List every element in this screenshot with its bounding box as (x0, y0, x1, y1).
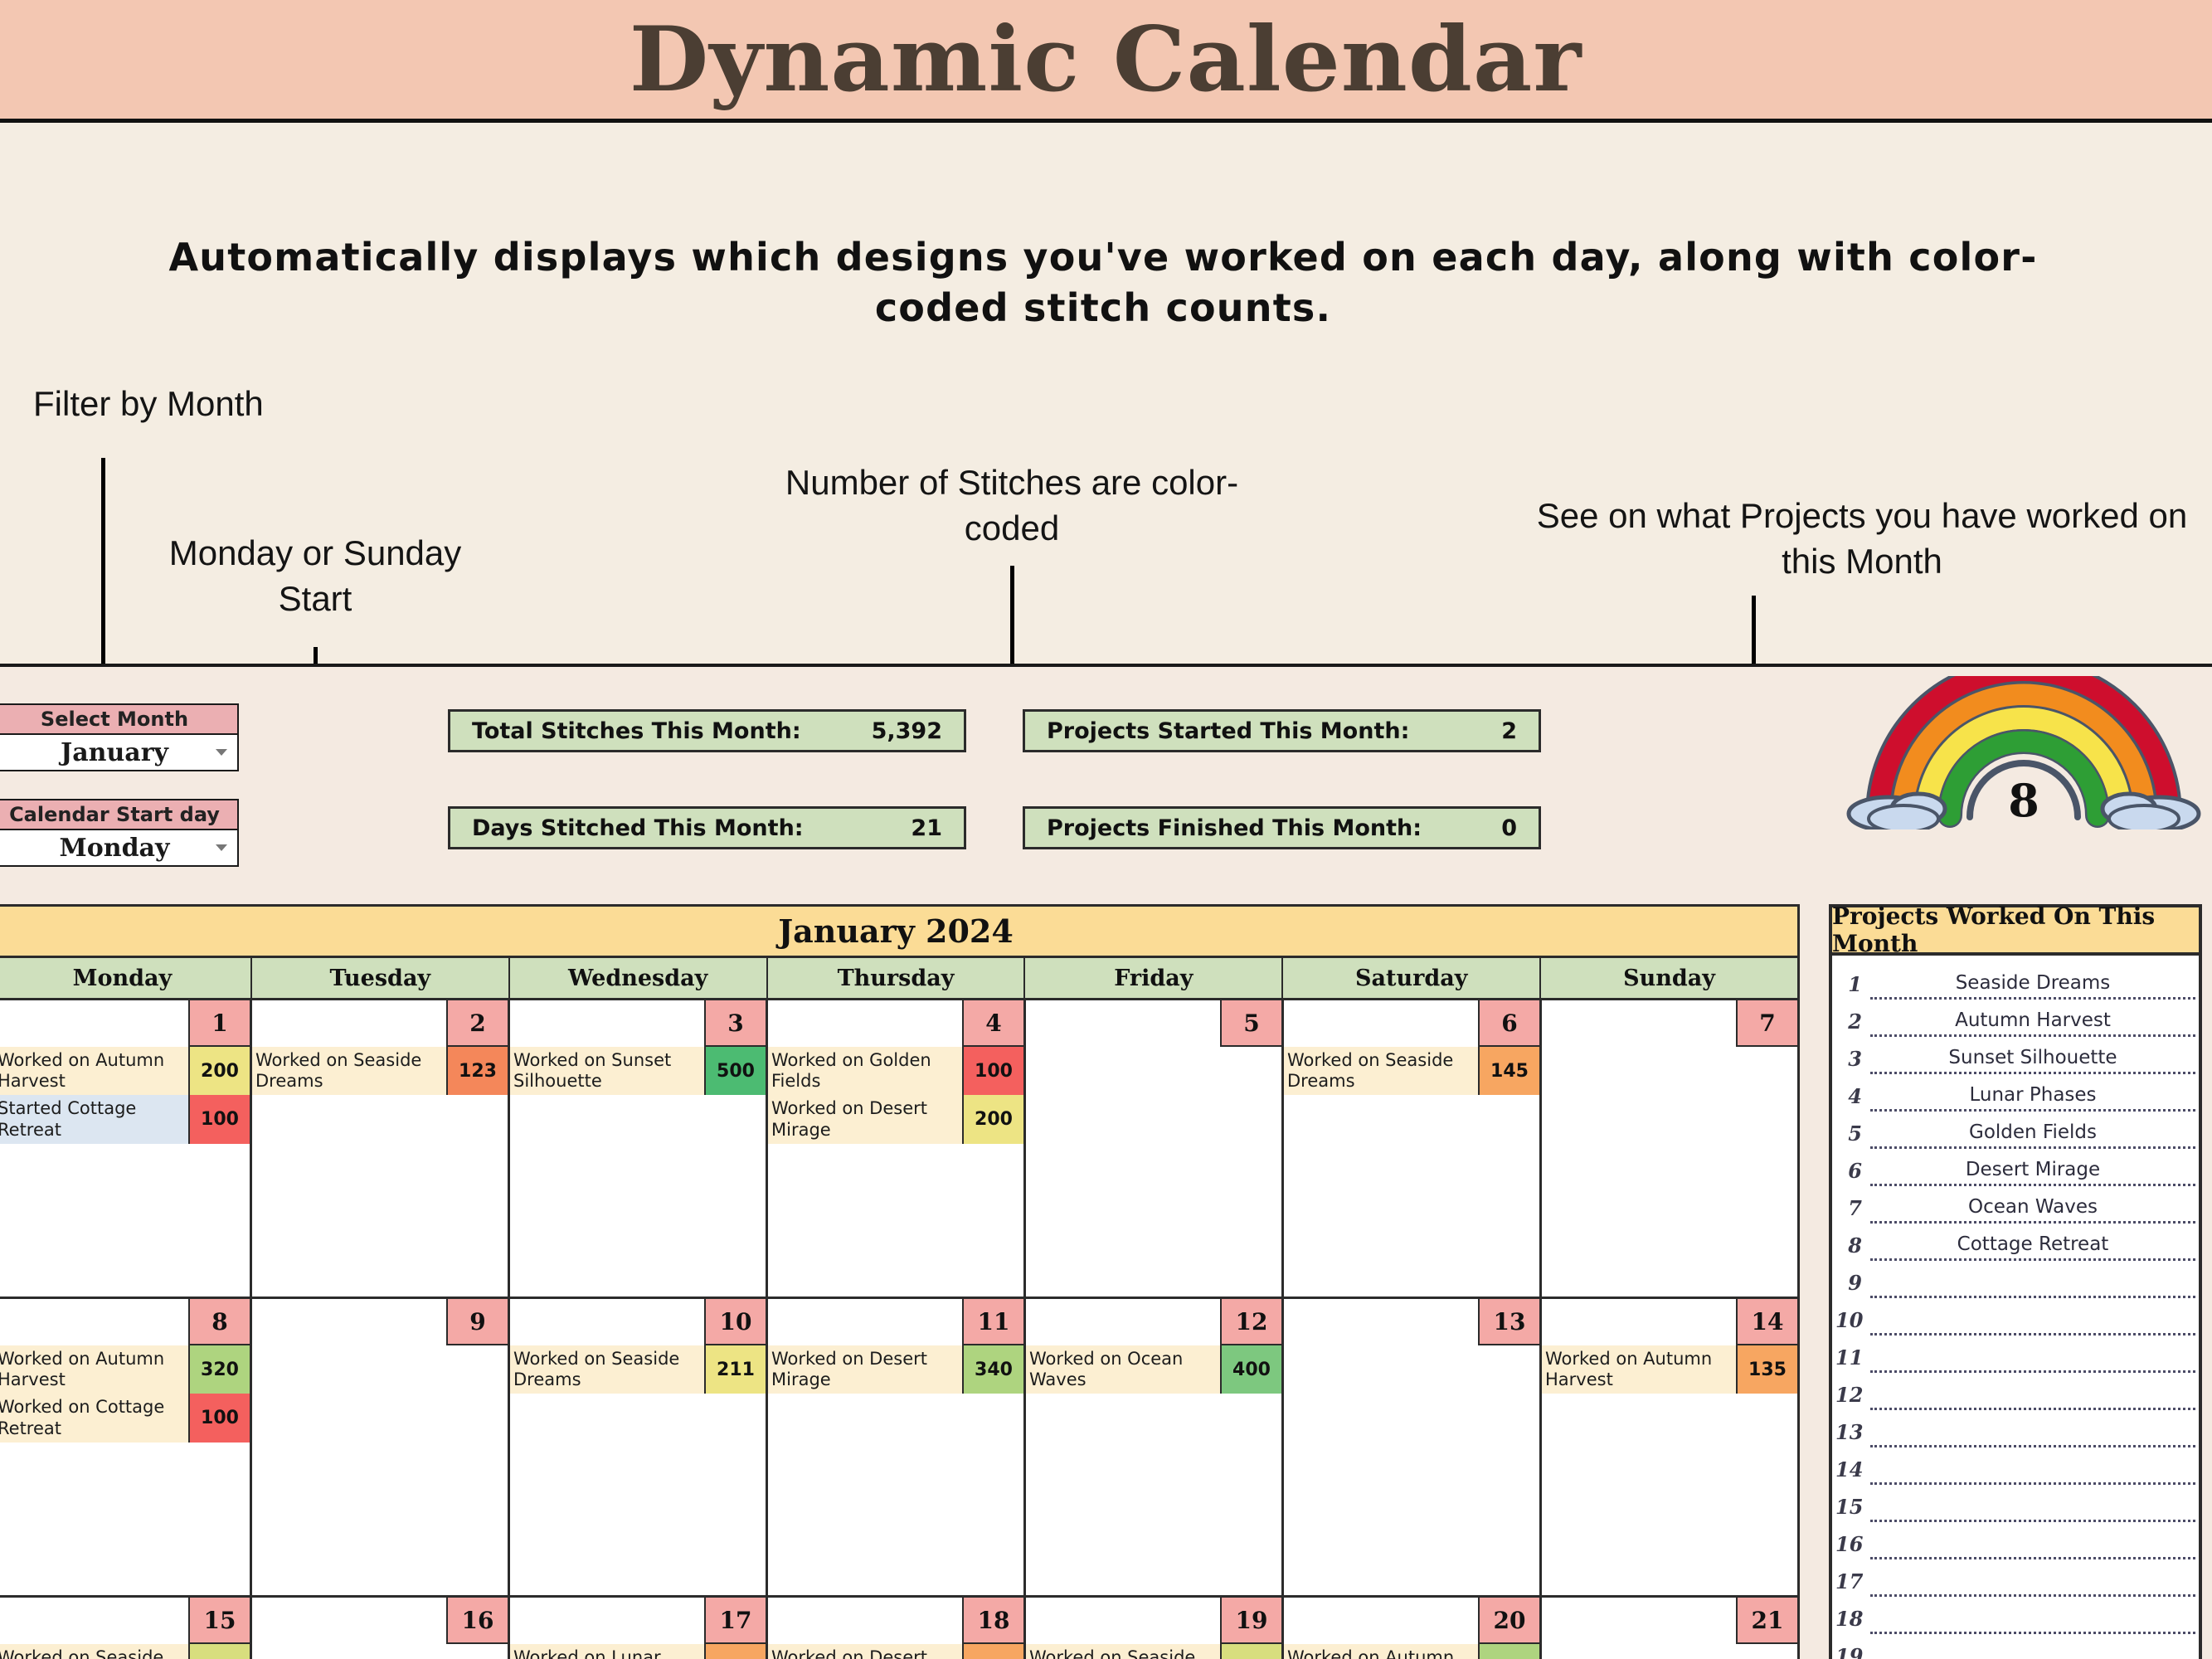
calendar-day-number: 6 (1478, 1000, 1539, 1047)
projects-list-name (1870, 1591, 2195, 1597)
calendar-entry-stitch-count: 200 (188, 1047, 250, 1095)
calendar-day-cell[interactable]: 14Worked on Autumn Harvest135 (1542, 1299, 1797, 1595)
calendar-entry: Worked on Seaside Dreams145 (1284, 1047, 1539, 1095)
stat-projects-finished: Projects Finished This Month: 0 (1023, 806, 1541, 849)
calendar-entry-stitch-count: 123 (446, 1047, 508, 1095)
calendar-day-number: 7 (1736, 1000, 1797, 1047)
calendar-entry-text: Worked on Lunar Phases (510, 1644, 704, 1659)
annotation-stitch-color-coded: Number of Stitches are color-coded (763, 460, 1261, 551)
projects-list-name: Desert Mirage (1870, 1159, 2195, 1186)
calendar-day-entries: Worked on Seaside Dreams245 (1026, 1644, 1281, 1659)
calendar-day-cell[interactable]: 16 (252, 1598, 510, 1659)
calendar-entry-text: Worked on Autumn Harvest (1542, 1345, 1736, 1394)
calendar-day-cell[interactable]: 5 (1026, 1000, 1284, 1297)
calendar-day-number: 11 (962, 1299, 1023, 1345)
projects-list-item: 15 (1835, 1485, 2195, 1522)
chevron-down-icon[interactable] (216, 844, 227, 851)
calendar-day-number: 18 (962, 1598, 1023, 1644)
projects-list-item: 5Golden Fields (1835, 1112, 2195, 1149)
calendar-entry: Worked on Seaside Dreams211 (510, 1345, 766, 1394)
calendar-entry-stitch-count: 211 (704, 1345, 766, 1394)
stat-value: 2 (1501, 718, 1517, 744)
calendar-entry: Worked on Desert Mirage133 (768, 1644, 1023, 1659)
projects-list-name (1870, 1404, 2195, 1410)
calendar-day-header-saturday: Saturday (1283, 958, 1541, 998)
calendar-week-row: 8Worked on Autumn Harvest320Worked on Co… (0, 1299, 1797, 1598)
calendar-day-cell[interactable]: 3Worked on Sunset Silhouette500 (510, 1000, 768, 1297)
calendar-day-cell[interactable]: 2Worked on Seaside Dreams123 (252, 1000, 510, 1297)
calendar-day-entries: Worked on Autumn Harvest320Worked on Cot… (0, 1345, 250, 1443)
calendar-day-cell[interactable]: 21 (1542, 1598, 1797, 1659)
calendar-entry: Worked on Autumn Harvest135 (1542, 1345, 1797, 1394)
calendar-day-number: 14 (1736, 1299, 1797, 1345)
projects-list-index: 11 (1835, 1348, 1870, 1373)
calendar-day-number: 3 (704, 1000, 766, 1047)
projects-list-name: Seaside Dreams (1870, 972, 2195, 1000)
calendar-title: January 2024 (0, 907, 1797, 958)
calendar-entry-text: Worked on Desert Mirage (768, 1644, 962, 1659)
calendar-entry: Worked on Seaside Dreams245 (1026, 1644, 1281, 1659)
calendar-day-entries: Worked on Golden Fields100Worked on Dese… (768, 1047, 1023, 1144)
projects-list-index: 4 (1835, 1087, 1870, 1112)
calendar-entry: Worked on Sunset Silhouette500 (510, 1047, 766, 1095)
calendar-entry-text: Worked on Autumn Harvest (0, 1345, 188, 1394)
calendar-start-day-label: Calendar Start day (0, 799, 239, 830)
calendar-entry: Worked on Lunar Phases135 (510, 1644, 766, 1659)
select-month-dropdown[interactable]: January (0, 735, 239, 771)
stat-value: 0 (1501, 815, 1517, 841)
projects-list-item: 17 (1835, 1559, 2195, 1597)
calendar-entry: Worked on Desert Mirage200 (768, 1095, 1023, 1143)
projects-list-index: 13 (1835, 1423, 1870, 1447)
calendar-entry-text: Worked on Desert Mirage (768, 1345, 962, 1394)
calendar-day-number: 21 (1736, 1598, 1797, 1644)
projects-list-index: 16 (1835, 1535, 1870, 1559)
calendar-day-number: 20 (1478, 1598, 1539, 1644)
projects-list-name (1870, 1442, 2195, 1447)
calendar-day-header-monday: Monday (0, 958, 252, 998)
stat-label: Days Stitched This Month: (472, 815, 911, 841)
calendar-entry-text: Worked on Seaside Dreams (1284, 1047, 1478, 1095)
projects-list-index: 2 (1835, 1012, 1870, 1037)
calendar-entry: Worked on Ocean Waves400 (1026, 1345, 1281, 1394)
calendar-day-number: 16 (446, 1598, 508, 1644)
calendar-day-cell[interactable]: 6Worked on Seaside Dreams145 (1284, 1000, 1542, 1297)
projects-list-name (1870, 1479, 2195, 1485)
calendar-day-cell[interactable]: 20Worked on Autumn Harvest320 (1284, 1598, 1542, 1659)
projects-list-item: 13 (1835, 1410, 2195, 1447)
calendar-day-cell[interactable]: 13 (1284, 1299, 1542, 1595)
calendar-entry-stitch-count: 320 (1478, 1644, 1539, 1659)
calendar-entry-text: Worked on Autumn Harvest (0, 1047, 188, 1095)
calendar-day-entries: Worked on Autumn Harvest320 (1284, 1644, 1539, 1659)
annotation-line-filter (101, 458, 105, 698)
projects-list-index: 17 (1835, 1572, 1870, 1597)
projects-list-item: 19 (1835, 1634, 2195, 1659)
calendar-start-day-value: Monday (60, 834, 170, 863)
page-title: Dynamic Calendar (630, 7, 1582, 112)
calendar-day-number: 9 (446, 1299, 508, 1345)
projects-list-name (1870, 1292, 2195, 1298)
calendar-day-header-friday: Friday (1025, 958, 1283, 998)
calendar-entry-stitch-count: 231 (188, 1644, 250, 1659)
calendar-entry: Worked on Autumn Harvest200 (0, 1047, 250, 1095)
calendar-day-number: 4 (962, 1000, 1023, 1047)
calendar-entry-stitch-count: 400 (1220, 1345, 1281, 1394)
projects-list-name (1870, 1628, 2195, 1634)
calendar-entry-text: Started Cottage Retreat (0, 1095, 188, 1143)
projects-list-name (1870, 1554, 2195, 1559)
calendar-entry: Worked on Seaside Dreams231 (0, 1644, 250, 1659)
projects-list-item: 10 (1835, 1298, 2195, 1335)
projects-list-index: 5 (1835, 1124, 1870, 1149)
projects-list-index: 6 (1835, 1161, 1870, 1186)
calendar-day-cell[interactable]: 4Worked on Golden Fields100Worked on Des… (768, 1000, 1026, 1297)
calendar-entry-stitch-count: 145 (1478, 1047, 1539, 1095)
calendar-entry: Started Cottage Retreat100 (0, 1095, 250, 1143)
calendar-entry-text: Worked on Seaside Dreams (252, 1047, 446, 1095)
calendar-entry-stitch-count: 200 (962, 1095, 1023, 1143)
calendar-day-number: 19 (1220, 1598, 1281, 1644)
stat-value: 21 (911, 815, 942, 841)
stat-value: 5,392 (872, 718, 942, 744)
calendar-day-cell[interactable]: 1Worked on Autumn Harvest200Started Cott… (0, 1000, 252, 1297)
annotation-start-day: Monday or Sunday Start (158, 531, 473, 621)
calendar-day-entries: Worked on Lunar Phases135 (510, 1644, 766, 1659)
calendar-entry: Worked on Cottage Retreat100 (0, 1394, 250, 1442)
calendar-entry-text: Worked on Desert Mirage (768, 1095, 962, 1143)
calendar-day-entries: Worked on Seaside Dreams123 (252, 1047, 508, 1095)
projects-list-item: 11 (1835, 1335, 2195, 1373)
calendar-entry: Worked on Autumn Harvest320 (1284, 1644, 1539, 1659)
calendar: January 2024 MondayTuesdayWednesdayThurs… (0, 904, 1800, 1659)
calendar-day-entries: Worked on Seaside Dreams231 (0, 1644, 250, 1659)
projects-list-item: 4Lunar Phases (1835, 1074, 2195, 1112)
calendar-entry-stitch-count: 100 (962, 1047, 1023, 1095)
calendar-day-cell[interactable]: 10Worked on Seaside Dreams211 (510, 1299, 768, 1595)
title-banner: Dynamic Calendar (0, 0, 2212, 123)
projects-list-index: 9 (1835, 1273, 1870, 1298)
stat-projects-started: Projects Started This Month: 2 (1023, 709, 1541, 752)
projects-list-index: 1 (1835, 975, 1870, 1000)
calendar-week-row: 15Worked on Seaside Dreams2311617Worked … (0, 1598, 1797, 1659)
calendar-day-cell[interactable]: 8Worked on Autumn Harvest320Worked on Co… (0, 1299, 252, 1595)
calendar-entry: Worked on Autumn Harvest320 (0, 1345, 250, 1394)
calendar-day-header-tuesday: Tuesday (252, 958, 510, 998)
annotation-filter-by-month: Filter by Month (33, 382, 382, 427)
projects-list-name (1870, 1367, 2195, 1373)
calendar-day-header-wednesday: Wednesday (510, 958, 768, 998)
calendar-entry-text: Worked on Sunset Silhouette (510, 1047, 704, 1095)
chevron-down-icon[interactable] (216, 749, 227, 756)
calendar-day-number: 5 (1220, 1000, 1281, 1047)
calendar-entry-stitch-count: 340 (962, 1345, 1023, 1394)
calendar-day-entries: Worked on Desert Mirage340 (768, 1345, 1023, 1394)
projects-list-index: 18 (1835, 1609, 1870, 1634)
projects-panel: Projects Worked On This Month 1Seaside D… (1829, 904, 2202, 1659)
stat-days-stitched: Days Stitched This Month: 21 (448, 806, 966, 849)
projects-panel-title: Projects Worked On This Month (1832, 907, 2199, 956)
projects-list-index: 19 (1835, 1647, 1870, 1659)
calendar-day-header-sunday: Sunday (1541, 958, 1797, 998)
calendar-day-entries: Worked on Autumn Harvest135 (1542, 1345, 1797, 1394)
projects-list-item: 12 (1835, 1373, 2195, 1410)
projects-list-name: Ocean Waves (1870, 1196, 2195, 1224)
calendar-day-cell[interactable]: 19Worked on Seaside Dreams245 (1026, 1598, 1284, 1659)
stat-label: Total Stitches This Month: (472, 718, 872, 744)
calendar-entry-text: Worked on Seaside Dreams (510, 1345, 704, 1394)
calendar-day-entries: Worked on Autumn Harvest200Started Cotta… (0, 1047, 250, 1144)
calendar-entry: Worked on Desert Mirage340 (768, 1345, 1023, 1394)
stat-label: Projects Finished This Month: (1047, 815, 1501, 841)
calendar-entry-stitch-count: 100 (188, 1394, 250, 1442)
calendar-entry-stitch-count: 245 (1220, 1644, 1281, 1659)
calendar-day-cell[interactable]: 15Worked on Seaside Dreams231 (0, 1598, 252, 1659)
calendar-entry-text: Worked on Golden Fields (768, 1047, 962, 1095)
projects-list-name (1870, 1516, 2195, 1522)
calendar-entry: Worked on Seaside Dreams123 (252, 1047, 508, 1095)
calendar-day-number: 13 (1478, 1299, 1539, 1345)
calendar-day-cell[interactable]: 12Worked on Ocean Waves400 (1026, 1299, 1284, 1595)
calendar-entry-text: Worked on Seaside Dreams (0, 1644, 188, 1659)
projects-list-name: Cottage Retreat (1870, 1233, 2195, 1261)
projects-list-index: 7 (1835, 1199, 1870, 1224)
projects-list-index: 12 (1835, 1385, 1870, 1410)
calendar-day-entries: Worked on Seaside Dreams211 (510, 1345, 766, 1394)
projects-list-name (1870, 1330, 2195, 1335)
calendar-day-cell[interactable]: 7 (1542, 1000, 1797, 1297)
calendar-day-entries: Worked on Ocean Waves400 (1026, 1345, 1281, 1394)
select-month-label: Select Month (0, 703, 239, 735)
calendar-day-number: 12 (1220, 1299, 1281, 1345)
calendar-day-number: 2 (446, 1000, 508, 1047)
calendar-day-entries: Worked on Seaside Dreams145 (1284, 1047, 1539, 1095)
calendar-weeks: 1Worked on Autumn Harvest200Started Cott… (0, 1000, 1797, 1659)
select-month-control[interactable]: Select Month January (0, 703, 239, 771)
projects-list-item: 16 (1835, 1522, 2195, 1559)
projects-list-item: 2Autumn Harvest (1835, 1000, 2195, 1037)
calendar-entry-stitch-count: 500 (704, 1047, 766, 1095)
calendar-day-header-thursday: Thursday (768, 958, 1026, 998)
calendar-day-cell[interactable]: 18Worked on Desert Mirage133 (768, 1598, 1026, 1659)
rainbow-badge-value: 8 (1845, 774, 2202, 827)
stat-total-stitches: Total Stitches This Month: 5,392 (448, 709, 966, 752)
calendar-day-number: 1 (188, 1000, 250, 1047)
calendar-entry-text: Worked on Cottage Retreat (0, 1394, 188, 1442)
page-subtitle: Automatically displays which designs you… (149, 232, 2057, 333)
calendar-entry-stitch-count: 320 (188, 1345, 250, 1394)
projects-list-name: Sunset Silhouette (1870, 1047, 2195, 1074)
calendar-week-row: 1Worked on Autumn Harvest200Started Cott… (0, 1000, 1797, 1299)
calendar-entry-text: Worked on Seaside Dreams (1026, 1644, 1220, 1659)
projects-list: 1Seaside Dreams2Autumn Harvest3Sunset Si… (1832, 956, 2199, 1659)
calendar-day-number: 17 (704, 1598, 766, 1644)
projects-list-item: 3Sunset Silhouette (1835, 1037, 2195, 1074)
projects-list-index: 15 (1835, 1497, 1870, 1522)
projects-list-item: 18 (1835, 1597, 2195, 1634)
rainbow-badge: 8 (1845, 676, 2202, 850)
projects-list-item: 1Seaside Dreams (1835, 962, 2195, 1000)
calendar-day-number: 8 (188, 1299, 250, 1345)
calendar-start-day-dropdown[interactable]: Monday (0, 830, 239, 867)
select-month-value: January (61, 738, 168, 767)
projects-list-index: 8 (1835, 1236, 1870, 1261)
projects-list-name: Autumn Harvest (1870, 1010, 2195, 1037)
calendar-day-entries: Worked on Desert Mirage133 (768, 1644, 1023, 1659)
projects-list-index: 3 (1835, 1049, 1870, 1074)
calendar-day-entries: Worked on Sunset Silhouette500 (510, 1047, 766, 1095)
projects-list-item: 7Ocean Waves (1835, 1186, 2195, 1224)
calendar-entry-stitch-count: 135 (1736, 1345, 1797, 1394)
calendar-day-number: 15 (188, 1598, 250, 1644)
projects-list-name: Golden Fields (1870, 1121, 2195, 1149)
annotation-projects-worked: See on what Projects you have worked on … (1530, 494, 2194, 584)
projects-list-item: 6Desert Mirage (1835, 1149, 2195, 1186)
calendar-day-cell[interactable]: 11Worked on Desert Mirage340 (768, 1299, 1026, 1595)
calendar-entry-stitch-count: 133 (962, 1644, 1023, 1659)
projects-list-item: 14 (1835, 1447, 2195, 1485)
calendar-start-day-control[interactable]: Calendar Start day Monday (0, 799, 239, 867)
projects-list-index: 14 (1835, 1460, 1870, 1485)
calendar-day-number: 10 (704, 1299, 766, 1345)
calendar-day-cell[interactable]: 17Worked on Lunar Phases135 (510, 1598, 768, 1659)
projects-list-item: 8Cottage Retreat (1835, 1224, 2195, 1261)
projects-list-name: Lunar Phases (1870, 1084, 2195, 1112)
calendar-entry-text: Worked on Ocean Waves (1026, 1345, 1220, 1394)
projects-list-index: 10 (1835, 1311, 1870, 1335)
calendar-entry: Worked on Golden Fields100 (768, 1047, 1023, 1095)
calendar-entry-stitch-count: 135 (704, 1644, 766, 1659)
projects-list-item: 9 (1835, 1261, 2195, 1298)
calendar-day-header-row: MondayTuesdayWednesdayThursdayFridaySatu… (0, 958, 1797, 1000)
stat-label: Projects Started This Month: (1047, 718, 1501, 744)
calendar-entry-text: Worked on Autumn Harvest (1284, 1644, 1478, 1659)
calendar-entry-stitch-count: 100 (188, 1095, 250, 1143)
calendar-day-cell[interactable]: 9 (252, 1299, 510, 1595)
